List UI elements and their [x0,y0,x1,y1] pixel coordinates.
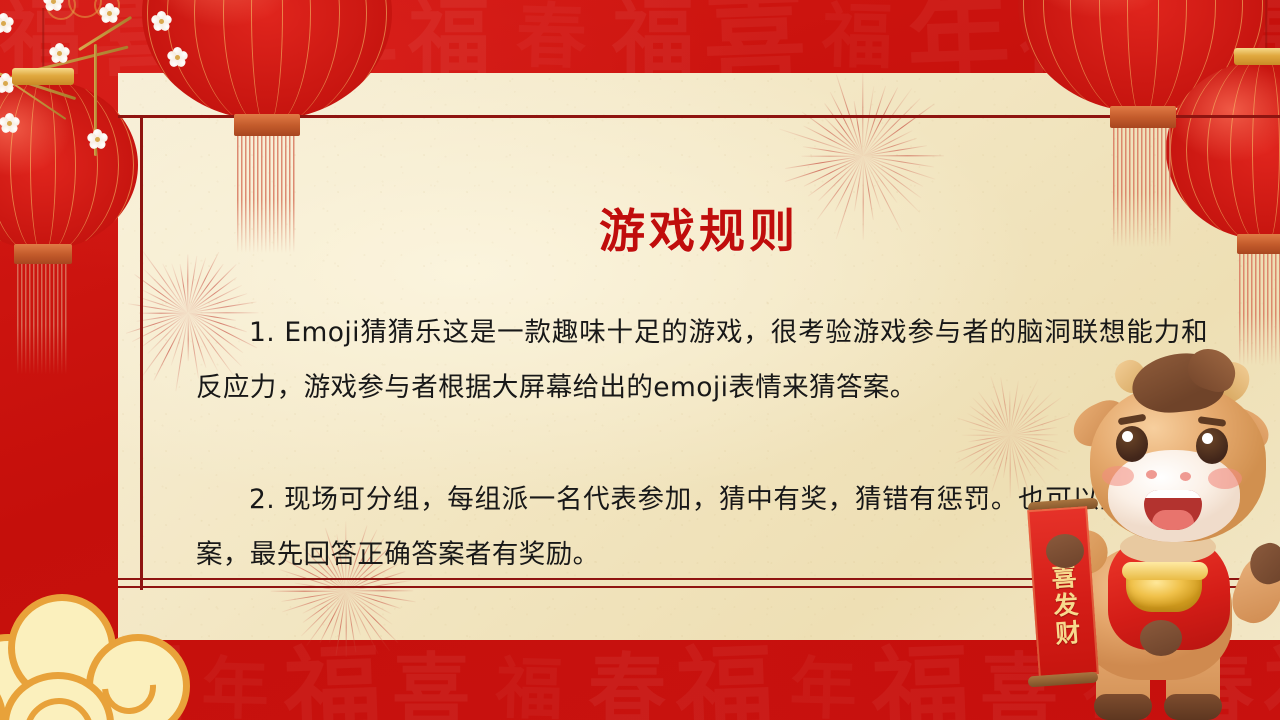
ox-hoof-right [1164,694,1222,720]
plum-blossom-decoration [0,0,220,173]
ox-eye-left [1116,426,1148,462]
plum-flower-icon [0,12,14,34]
auspicious-cloud-decoration [0,576,246,720]
lantern-base-1 [14,244,72,264]
plum-flower-icon [86,128,108,150]
ox-hand-left [1046,534,1084,568]
plum-flower-icon [98,2,120,24]
ox-mascot: 恭喜发财 [1020,348,1280,720]
plum-flower-icon [42,0,64,12]
scroll-banner: 恭喜发财 [1026,498,1100,688]
lantern-cap-1 [12,68,74,85]
ox-nostril-left [1146,470,1157,479]
ox-cheek-left [1102,466,1134,486]
lantern-base-2 [234,114,300,136]
plum-flower-icon [150,10,172,32]
page-title: 游戏规则 [118,195,1280,261]
plum-flower-icon [166,46,188,68]
ox-hoof-left [1094,694,1152,720]
lantern-cap-4 [1234,48,1280,65]
ox-nostril-right [1180,472,1191,481]
plum-flower-icon [48,42,70,64]
lantern-tassel-1 [17,263,69,375]
gold-ingot-top [1122,562,1208,580]
lantern-base-3 [1110,106,1176,128]
plum-flower-icon [0,112,20,134]
lantern-string-4 [1265,0,1267,50]
ox-eye-right [1196,428,1228,464]
scroll-paper: 恭喜发财 [1027,506,1099,678]
ox-cheek-right [1208,468,1242,489]
slide-canvas: 福喜福年福春 福喜福年福春 福喜福年 春福年福喜福 春福年福喜福 春福年福 游戏… [0,0,1280,720]
panel-border-left [140,115,143,590]
ox-hand-right [1140,620,1182,656]
firework-icon-1 [818,111,908,201]
ox-mouth [1144,490,1202,530]
